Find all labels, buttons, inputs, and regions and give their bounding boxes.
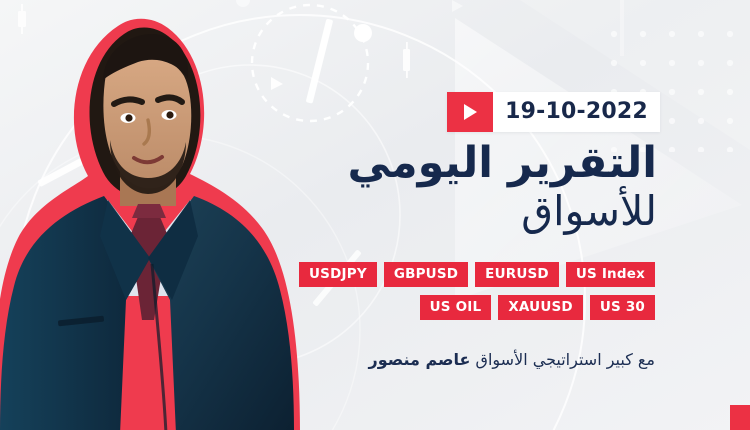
instrument-tag-us-oil[interactable]: US OIL xyxy=(420,295,492,320)
headline-line-2: للأسواق xyxy=(237,189,657,235)
instrument-tag-usdjpy[interactable]: USDJPY xyxy=(299,262,377,287)
presenter-name: عاصم منصور xyxy=(368,350,470,369)
instrument-tag-eurusd[interactable]: EURUSD xyxy=(475,262,559,287)
play-triangle-icon xyxy=(461,102,479,122)
byline-prefix: مع كبير استراتيجي الأسواق xyxy=(476,350,655,369)
corner-accent xyxy=(730,405,750,430)
tie-knot xyxy=(132,204,166,218)
play-button[interactable] xyxy=(447,92,493,132)
presenter-byline: مع كبير استراتيجي الأسواق عاصم منصور xyxy=(330,350,655,371)
headline-line-1: التقرير اليومي xyxy=(237,141,657,187)
instrument-tag-us-30[interactable]: US 30 xyxy=(590,295,655,320)
instrument-tag-xauusd[interactable]: XAUUSD xyxy=(498,295,583,320)
instrument-tag-gbpusd[interactable]: GBPUSD xyxy=(384,262,468,287)
date-badge[interactable]: 19-10-2022 xyxy=(447,92,660,132)
instrument-tag-row-1: USDJPY GBPUSD EURUSD US Index xyxy=(299,262,655,287)
date-text: 19-10-2022 xyxy=(493,92,660,132)
instrument-tag-group: USDJPY GBPUSD EURUSD US Index US OIL XAU… xyxy=(330,262,655,320)
instrument-tag-us-index[interactable]: US Index xyxy=(566,262,655,287)
instrument-tag-row-2: US OIL XAUUSD US 30 xyxy=(420,295,655,320)
page-title: التقرير اليومي للأسواق xyxy=(237,141,657,234)
daily-market-report-banner: 19-10-2022 التقرير اليومي للأسواق USDJPY… xyxy=(0,0,750,430)
